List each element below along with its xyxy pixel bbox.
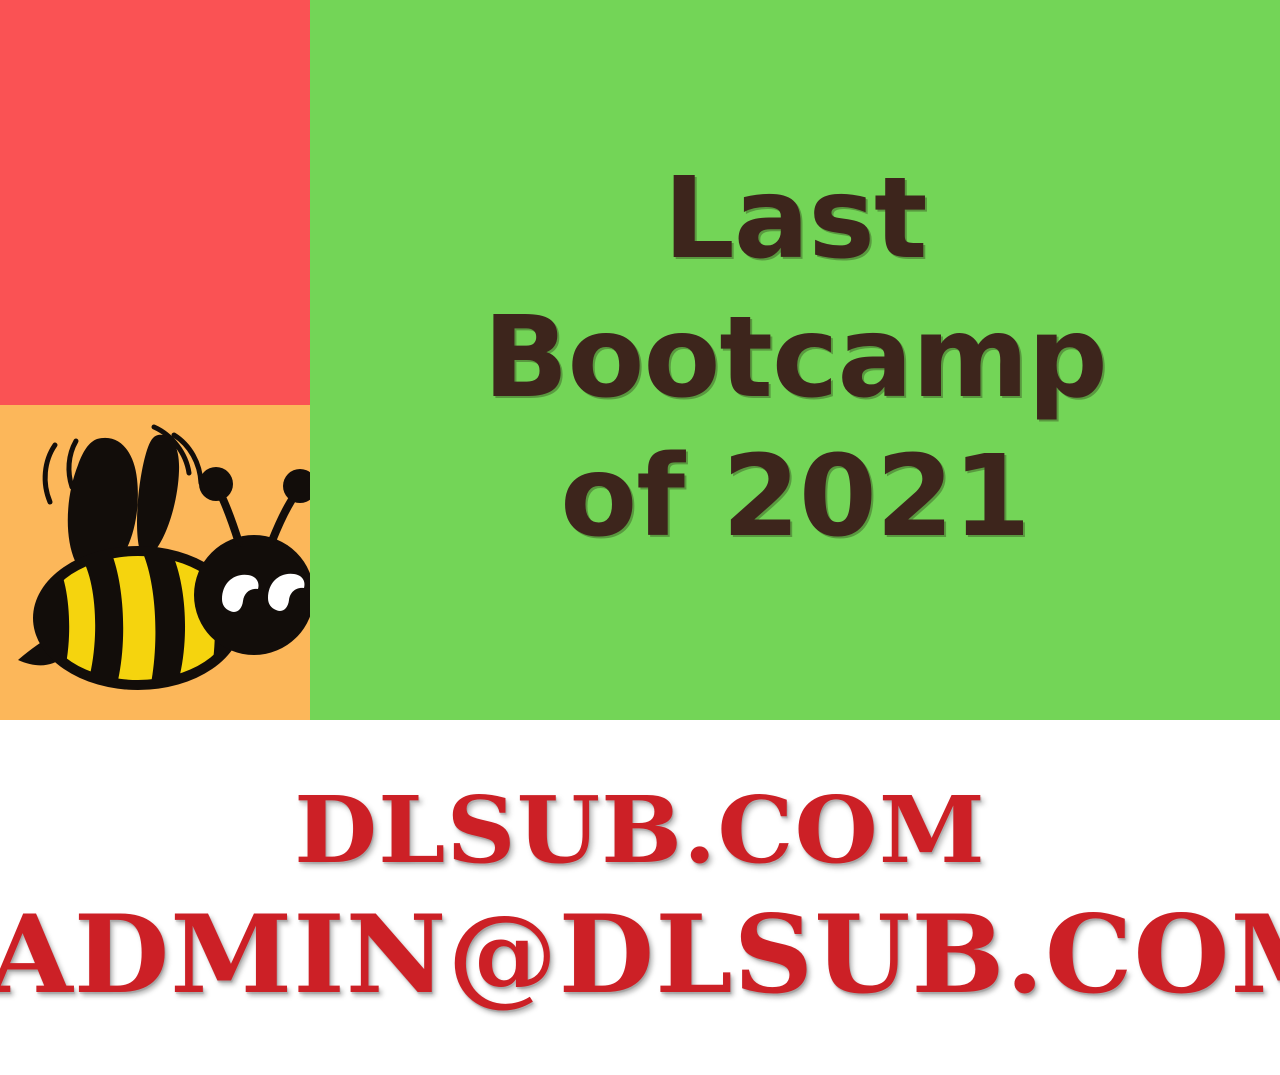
- headline-line-2: Bootcamp: [330, 289, 1260, 428]
- headline-line-3: of 2021: [330, 428, 1260, 567]
- red-block: [0, 0, 310, 405]
- head: [194, 535, 310, 655]
- page-title: Last Bootcamp of 2021: [330, 150, 1260, 567]
- headline-line-1: Last: [330, 150, 1260, 289]
- bee-icon: [0, 405, 310, 720]
- antenna-right: [272, 495, 295, 541]
- antenna-right-tip: [283, 469, 310, 503]
- bee-illustration: [0, 405, 310, 720]
- antenna-left-tip: [199, 467, 233, 501]
- wing-small: [137, 435, 179, 557]
- poster-canvas: Last Bootcamp of 2021: [0, 0, 1280, 1075]
- watermark-email: ADMIN@DLSUB.COM: [0, 892, 1280, 1018]
- watermark-site: DLSUB.COM: [0, 776, 1280, 884]
- watermark-band: DLSUB.COM ADMIN@DLSUB.COM: [0, 720, 1280, 1075]
- graphic-panel: Last Bootcamp of 2021: [0, 0, 1280, 720]
- antenna-left: [220, 493, 239, 543]
